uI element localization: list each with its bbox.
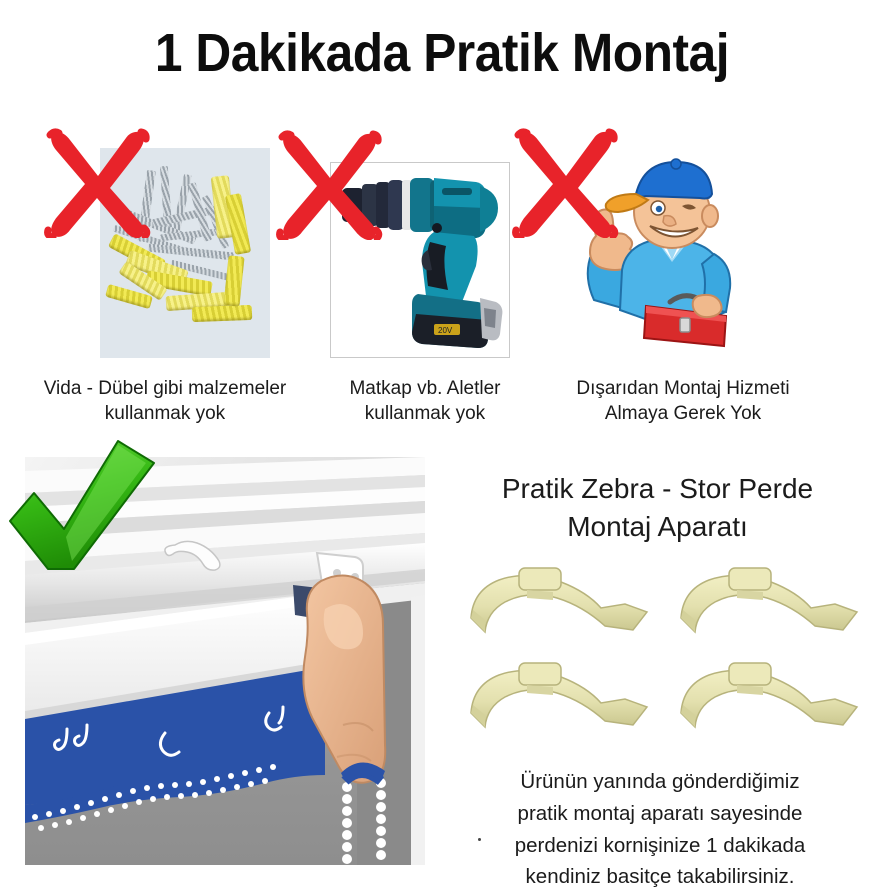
description-line-3: perdenizi kornişinize 1 dakikada (450, 830, 870, 862)
description-line-2: pratik montaj aparatı sayesinde (450, 798, 870, 830)
cordless-drill-photo: 20V (330, 162, 510, 358)
no-item-drill-caption: Matkap vb. Aletler kullanmak yok (315, 376, 535, 426)
no-item-screws-caption: Vida - Dübel gibi malzemeler kullanmak y… (20, 376, 310, 426)
description-line-1: Ürünün yanında gönderdiğimiz (450, 766, 870, 798)
description-line-4: kendiniz basitçe takabilirsiniz. (450, 861, 870, 893)
mounting-clips-group (455, 560, 875, 750)
stray-dot (478, 838, 481, 841)
svg-text:20V: 20V (438, 326, 453, 335)
caption-line-2: Almaya Gerek Yok (605, 403, 761, 424)
product-description: Ürünün yanında gönderdiğimiz pratik mont… (450, 766, 870, 893)
product-subtitle: Pratik Zebra - Stor Perde Montaj Aparatı (445, 470, 870, 546)
caption-line-2: kullanmak yok (105, 403, 225, 424)
mounting-clip (465, 560, 655, 655)
caption-line-1: Matkap vb. Aletler (349, 378, 500, 399)
no-item-handyman (560, 150, 760, 358)
no-item-handyman-caption: Dışarıdan Montaj Hizmeti Almaya Gerek Yo… (548, 376, 818, 426)
page-title: 1 Dakikada Pratik Montaj (35, 22, 848, 84)
handyman-cartoon (560, 150, 760, 358)
product-infographic: 1 Dakikada Pratik Montaj (0, 0, 884, 895)
mounting-clip (465, 655, 655, 750)
subtitle-line-1: Pratik Zebra - Stor Perde (502, 473, 813, 504)
subtitle-line-2: Montaj Aparatı (567, 511, 748, 542)
caption-line-1: Dışarıdan Montaj Hizmeti (576, 378, 789, 399)
blind-installation-photo (25, 457, 425, 865)
no-item-screws (100, 148, 270, 358)
screws-and-wall-plugs-photo (100, 148, 270, 358)
mounting-clip (675, 655, 865, 750)
no-item-drill: 20V (330, 162, 510, 358)
caption-line-2: kullanmak yok (365, 403, 485, 424)
mounting-clip (675, 560, 865, 655)
caption-line-1: Vida - Dübel gibi malzemeler (44, 378, 287, 399)
